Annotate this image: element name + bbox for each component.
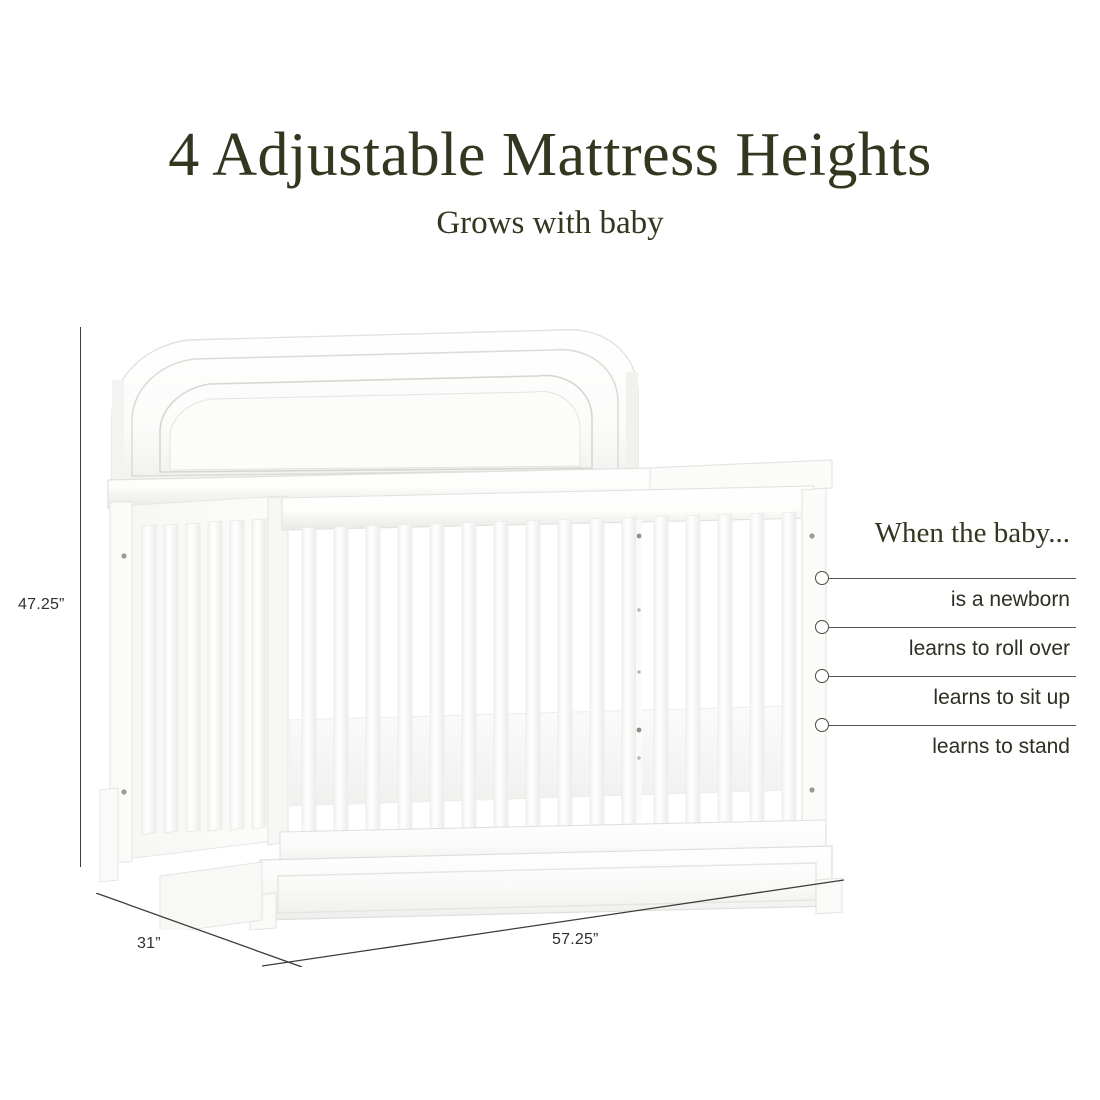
crib-illustration bbox=[90, 320, 850, 930]
callout-rule-1 bbox=[829, 578, 1076, 579]
callout-row-sit-up: learns to sit up bbox=[815, 669, 1085, 718]
mattress-height-hardware bbox=[636, 520, 642, 820]
callout-rule-3 bbox=[829, 676, 1076, 677]
callout-rule-4 bbox=[829, 725, 1076, 726]
width-line-svg bbox=[262, 872, 844, 972]
callout-label-3: learns to sit up bbox=[933, 685, 1070, 711]
callout-heading: When the baby... bbox=[875, 516, 1070, 550]
crib-end-panel-left bbox=[100, 496, 288, 882]
width-dimension-label: 57.25” bbox=[548, 930, 603, 950]
mattress-height-marker-3-icon[interactable] bbox=[815, 669, 829, 683]
callout-label-2: learns to roll over bbox=[909, 636, 1070, 662]
width-dimension-line bbox=[262, 872, 844, 972]
mattress-height-marker-4-icon[interactable] bbox=[815, 718, 829, 732]
page-title: 4 Adjustable Mattress Heights bbox=[0, 118, 1100, 192]
mattress-height-marker-2-icon[interactable] bbox=[815, 620, 829, 634]
depth-dimension-label: 31” bbox=[133, 934, 165, 954]
callout-rule-2 bbox=[829, 627, 1076, 628]
callout-row-roll-over: learns to roll over bbox=[815, 620, 1085, 669]
callout-row-newborn: is a newborn bbox=[815, 571, 1085, 620]
height-dimension-label: 47.25” bbox=[18, 596, 65, 614]
page-subtitle: Grows with baby bbox=[0, 203, 1100, 243]
infographic-canvas: 4 Adjustable Mattress Heights Grows with… bbox=[0, 0, 1100, 1100]
callout-row-stand: learns to stand bbox=[815, 718, 1085, 767]
mattress-height-marker-1-icon[interactable] bbox=[815, 571, 829, 585]
callout-label-4: learns to stand bbox=[932, 734, 1070, 760]
height-dimension-line bbox=[80, 327, 81, 867]
crib-headboard bbox=[112, 330, 638, 480]
callout-label-1: is a newborn bbox=[951, 587, 1070, 613]
crib-drawing bbox=[90, 320, 850, 930]
